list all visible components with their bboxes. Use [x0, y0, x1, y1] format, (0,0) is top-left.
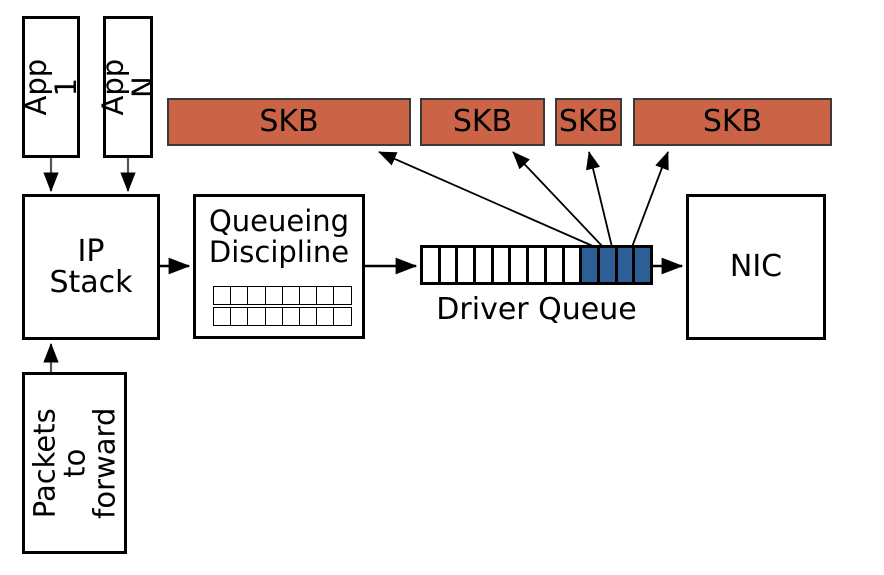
arrow-queue-slot-to-skb-2: [513, 152, 603, 247]
node-queueing-discipline-label: Queueing Discipline: [196, 206, 362, 267]
node-app-n-label: App N: [98, 59, 158, 116]
qdisc-slot: [213, 286, 232, 305]
driver-queue-slot-empty: [529, 248, 547, 282]
node-ip-stack[interactable]: IP Stack: [22, 194, 160, 340]
node-nic-label: NIC: [730, 251, 782, 282]
qdisc-slot-row: [213, 307, 352, 326]
node-app-1-label: App 1: [21, 59, 81, 116]
skb-box-1-label: SKB: [259, 106, 318, 137]
driver-queue-slot-filled: [600, 248, 618, 282]
qdisc-slot: [333, 307, 352, 326]
qdisc-slot: [230, 286, 249, 305]
qdisc-slot: [316, 286, 335, 305]
node-queueing-discipline[interactable]: Queueing Discipline: [193, 194, 365, 339]
arrow-queue-slot-to-skb-1: [379, 152, 595, 247]
skb-box-4-label: SKB: [703, 106, 762, 137]
driver-queue-slot-filled: [635, 248, 650, 282]
driver-queue-label: Driver Queue: [420, 292, 653, 327]
qdisc-slot: [230, 307, 249, 326]
node-ip-stack-label: IP Stack: [49, 236, 132, 298]
driver-queue-slot-empty: [494, 248, 512, 282]
driver-queue-slot-empty: [547, 248, 565, 282]
qdisc-slot: [282, 286, 301, 305]
qdisc-slot: [265, 307, 284, 326]
arrow-queue-slot-to-skb-4: [632, 152, 668, 247]
driver-queue-slot-empty: [476, 248, 494, 282]
qdisc-slot: [299, 307, 318, 326]
node-packets-to-forward[interactable]: Packets to forward: [22, 372, 127, 554]
driver-queue-slot-empty: [441, 248, 459, 282]
arrow-queue-slot-to-skb-3: [589, 152, 612, 247]
qdisc-slot: [247, 286, 266, 305]
driver-queue[interactable]: [420, 245, 653, 285]
skb-box-2-label: SKB: [453, 106, 512, 137]
skb-box-3-label: SKB: [559, 106, 618, 137]
network-transmit-path-diagram: App 1 App N IP Stack Queueing Discipline: [0, 0, 884, 575]
skb-box-4[interactable]: SKB: [633, 98, 832, 146]
qdisc-slot: [213, 307, 232, 326]
qdisc-slot: [316, 307, 335, 326]
node-app-1[interactable]: App 1: [22, 16, 80, 158]
driver-queue-slot-filled: [618, 248, 636, 282]
node-app-n[interactable]: App N: [103, 16, 153, 158]
skb-box-1[interactable]: SKB: [167, 98, 411, 146]
qdisc-slot: [299, 286, 318, 305]
qdisc-slot-row: [213, 286, 352, 305]
node-nic[interactable]: NIC: [686, 194, 826, 340]
driver-queue-slot-empty: [511, 248, 529, 282]
qdisc-slot: [333, 286, 352, 305]
queueing-discipline-slot-grid: [213, 286, 352, 328]
node-packets-to-forward-label: Packets to forward: [29, 407, 119, 518]
qdisc-slot: [282, 307, 301, 326]
driver-queue-slot-empty: [458, 248, 476, 282]
qdisc-slot: [247, 307, 266, 326]
skb-box-3[interactable]: SKB: [555, 98, 622, 146]
driver-queue-slot-empty: [423, 248, 441, 282]
skb-box-2[interactable]: SKB: [420, 98, 545, 146]
driver-queue-slot-empty: [565, 248, 583, 282]
driver-queue-slot-filled: [582, 248, 600, 282]
qdisc-slot: [265, 286, 284, 305]
